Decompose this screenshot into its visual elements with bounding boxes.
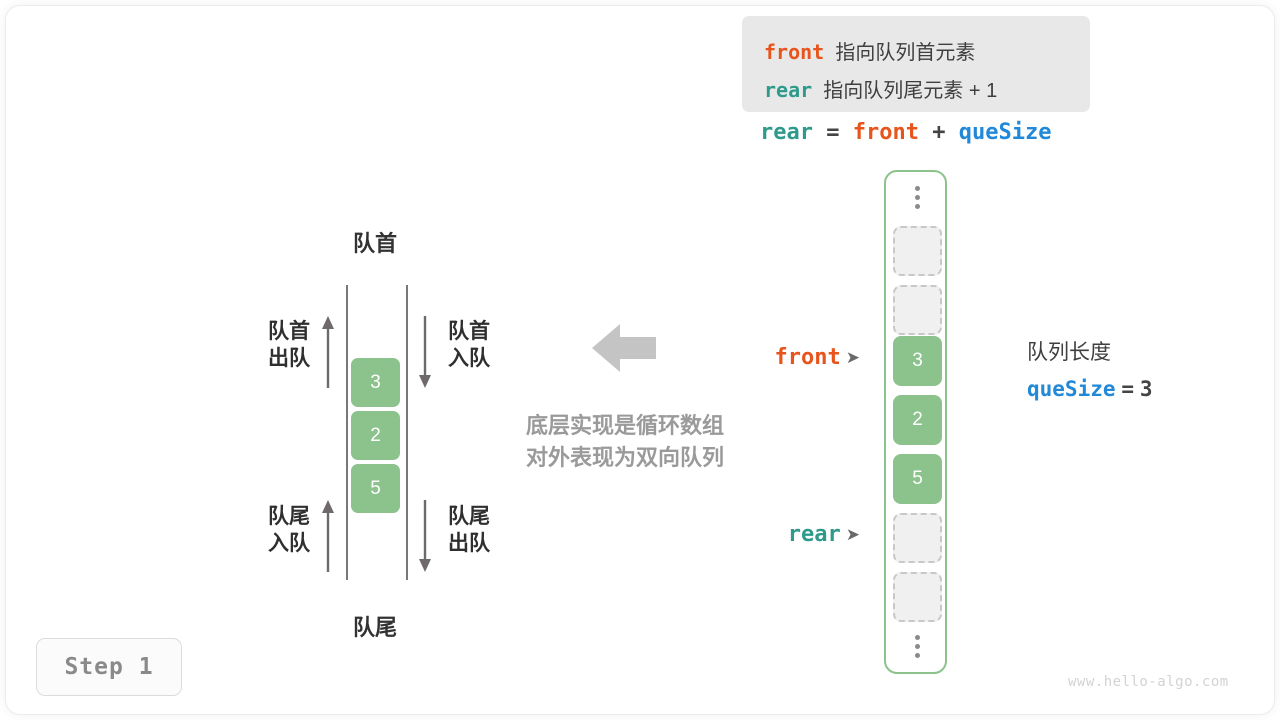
pointer-arrowhead-icon: ➤ [846,525,860,544]
op-label-head-dequeue: 队首出队 [248,318,310,372]
pointer-rear: rear➤ [700,521,860,547]
legend-text-front: 指向队列首元素 [835,42,975,64]
array-cell [893,226,942,276]
array-cell: 5 [893,454,942,504]
queue-size-value: 3 [1140,377,1153,401]
formula-quesize: queSize [959,120,1052,145]
array-cell [893,513,942,563]
legend-row-front: front 指向队列首元素 [764,42,975,63]
arrow-down-tail-dequeue-icon [418,500,432,572]
center-note-line2: 对外表现为双向队列 [470,442,780,474]
deque-right-rail [406,285,408,580]
pointer-front: front➤ [700,344,860,370]
op-label-tail-enqueue: 队尾入队 [248,503,310,557]
formula-plus: + [932,120,945,145]
left-pointing-arrow-icon [592,320,656,381]
step-badge: Step 1 [36,638,182,696]
deque-head-label: 队首 [300,226,450,258]
deque-tail-label: 队尾 [300,610,450,642]
queue-size-var: queSize [1027,377,1116,401]
legend-box: front 指向队列首元素 rear 指向队列尾元素 + 1 [742,16,1090,112]
formula-front: front [853,120,919,145]
arrow-down-head-enqueue-icon [418,316,432,388]
array-cell [893,572,942,622]
queue-size-equals: = [1121,377,1134,401]
legend-text-rear: 指向队列尾元素 + 1 [823,80,997,102]
watermark: www.hello-algo.com [1068,674,1229,690]
center-note: 底层实现是循环数组 对外表现为双向队列 [470,410,780,474]
legend-row-rear: rear 指向队列尾元素 + 1 [764,80,997,101]
formula-equals: = [826,120,839,145]
circular-array-container: 3 2 5 [884,170,947,674]
arrow-up-head-dequeue-icon [321,316,335,388]
op-label-head-enqueue: 队首入队 [448,318,490,372]
deque-left-rail [346,285,348,580]
pointer-rear-label: rear [788,522,841,547]
legend-term-front: front [764,40,824,64]
op-label-tail-dequeue: 队尾出队 [448,503,490,557]
queue-size-note: 队列长度 queSize = 3 [1027,338,1153,407]
deque-cell: 3 [351,358,400,407]
deque-cell: 5 [351,464,400,513]
array-cell [893,285,942,335]
deque-cell: 2 [351,411,400,460]
ellipsis-bottom-icon [886,635,949,658]
center-note-line1: 底层实现是循环数组 [470,410,780,442]
formula-line: rear = front + queSize [760,120,1051,146]
arrow-up-tail-enqueue-icon [321,500,335,572]
ellipsis-top-icon [886,186,949,209]
diagram-canvas: front 指向队列首元素 rear 指向队列尾元素 + 1 rear = fr… [0,0,1280,720]
formula-rear: rear [760,120,813,145]
legend-term-rear: rear [764,78,812,102]
pointer-arrowhead-icon: ➤ [846,348,860,367]
queue-size-title: 队列长度 [1027,338,1153,368]
pointer-front-label: front [775,345,841,370]
array-cell: 3 [893,336,942,386]
array-cell: 2 [893,395,942,445]
